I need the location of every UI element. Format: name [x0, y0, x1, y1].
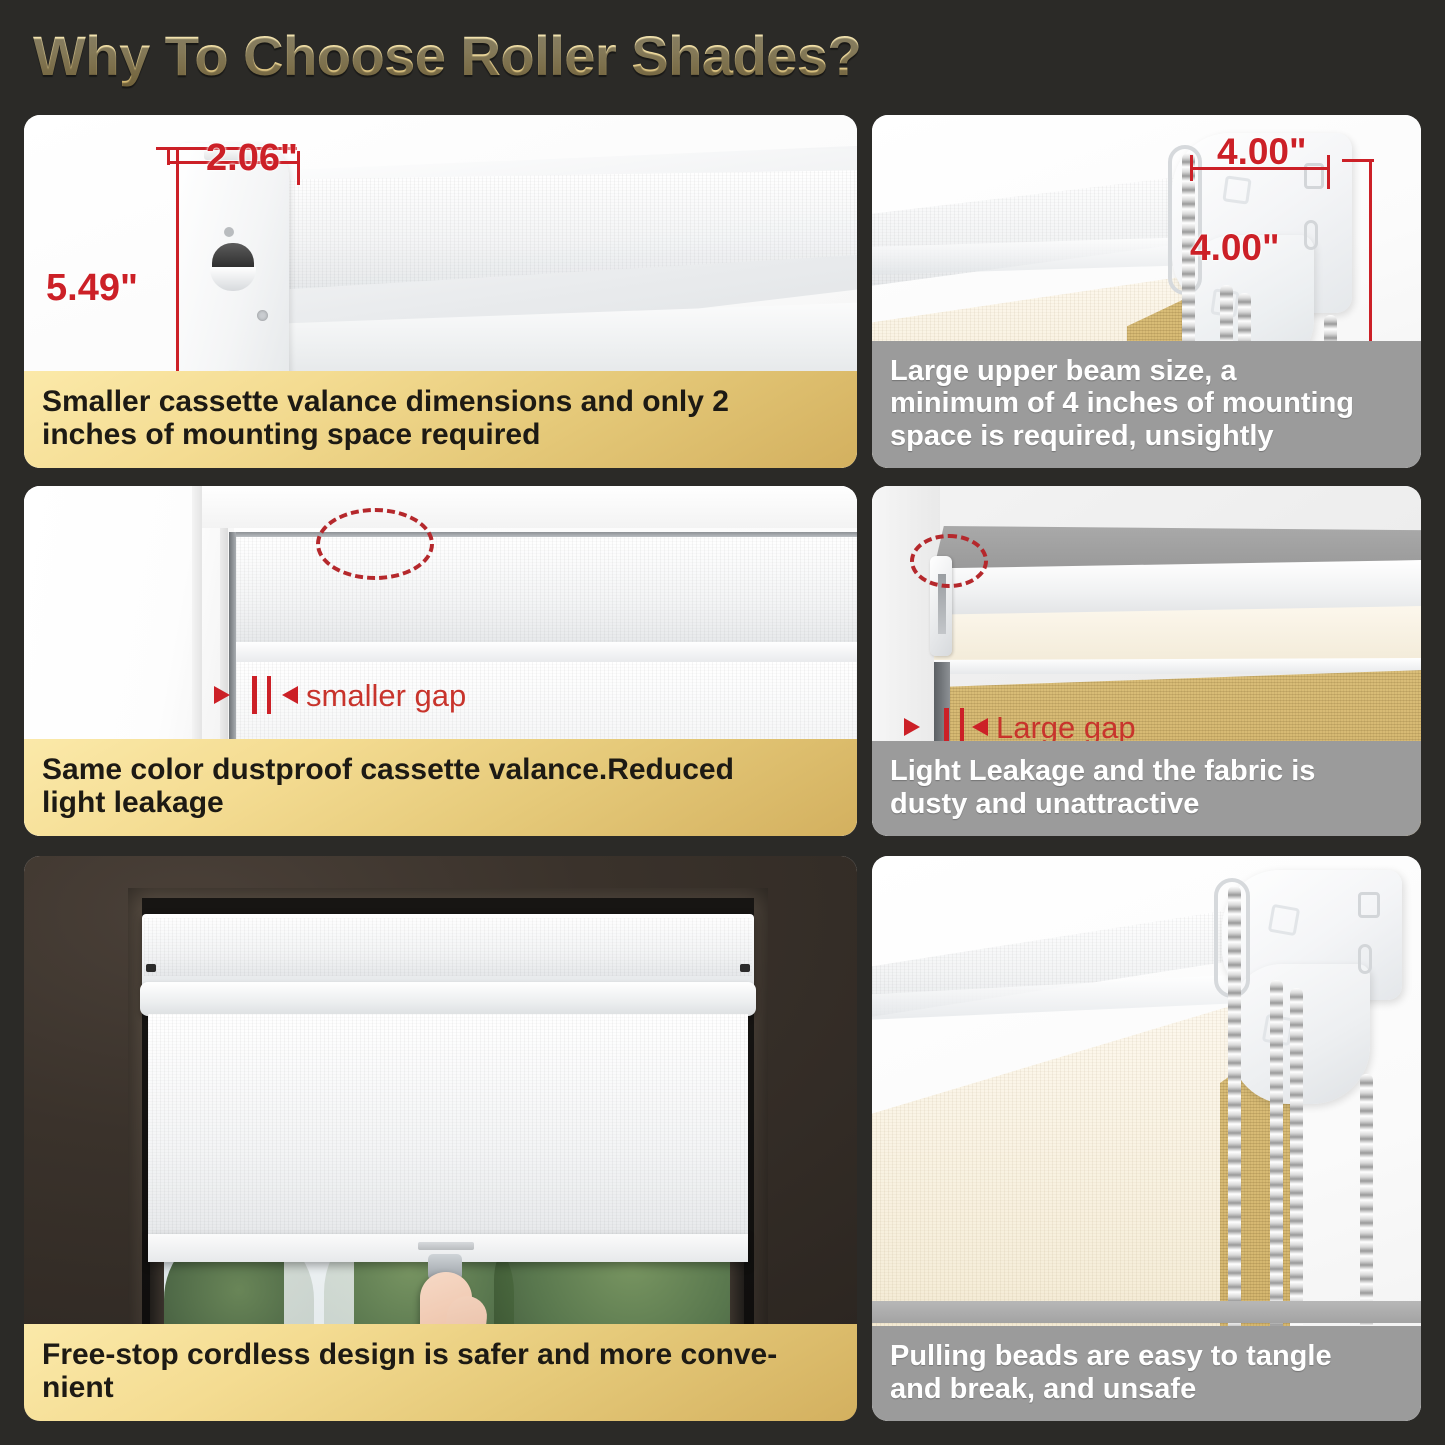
panel-mid-left-caption: Same color dustproof cassette valance.Re…: [24, 739, 857, 836]
highlight-ellipse: [910, 534, 988, 588]
panel-top-right: 4.00" 4.00" Large upper beam size, a min…: [872, 115, 1421, 468]
highlight-ellipse: [316, 508, 434, 580]
gap-arrow-left-icon: [972, 718, 988, 736]
page-title: Why To Choose Roller Shades?: [33, 23, 861, 88]
panel-bottom-left-caption: Free-stop cordless design is safer and m…: [24, 1324, 857, 1421]
height-dimension-label: 5.49": [46, 267, 138, 310]
panel-top-left: 2.06" 5.49" Smaller cassette valance dim…: [24, 115, 857, 468]
height-dimension-line: [1369, 159, 1372, 371]
panel-bottom-right-caption: Pulling beads are easy to tangle and bre…: [872, 1326, 1421, 1421]
panel-bottom-left: Free-stop cordless design is safer and m…: [24, 856, 857, 1421]
gap-callout-label: smaller gap: [306, 678, 466, 714]
panel-top-left-caption: Smaller cassette valance dimensions and …: [24, 371, 857, 468]
infographic-root: Why To Choose Roller Shades?: [0, 0, 1445, 1445]
header: Why To Choose Roller Shades?: [0, 0, 1445, 110]
gap-arrow-right-icon: [214, 686, 230, 704]
bead-chain-1: [1228, 886, 1241, 1366]
panel-mid-right: Large gap Light Leakage and the fabric i…: [872, 486, 1421, 836]
panel-bottom-right: Pulling beads are easy to tangle and bre…: [872, 856, 1421, 1421]
width-dimension-label: 2.06": [206, 137, 298, 180]
panel-top-right-caption: Large upper beam size, a minimum of 4 in…: [872, 341, 1421, 468]
height-dimension-label: 4.00": [1190, 227, 1280, 269]
panel-mid-right-caption: Light Leakage and the fabric is dusty an…: [872, 741, 1421, 836]
gap-arrow-left-icon: [282, 686, 298, 704]
panel-mid-left: smaller gap Same color dustproof cassett…: [24, 486, 857, 836]
gap-arrow-right-icon: [904, 718, 920, 736]
width-dimension-label: 4.00": [1217, 131, 1307, 173]
